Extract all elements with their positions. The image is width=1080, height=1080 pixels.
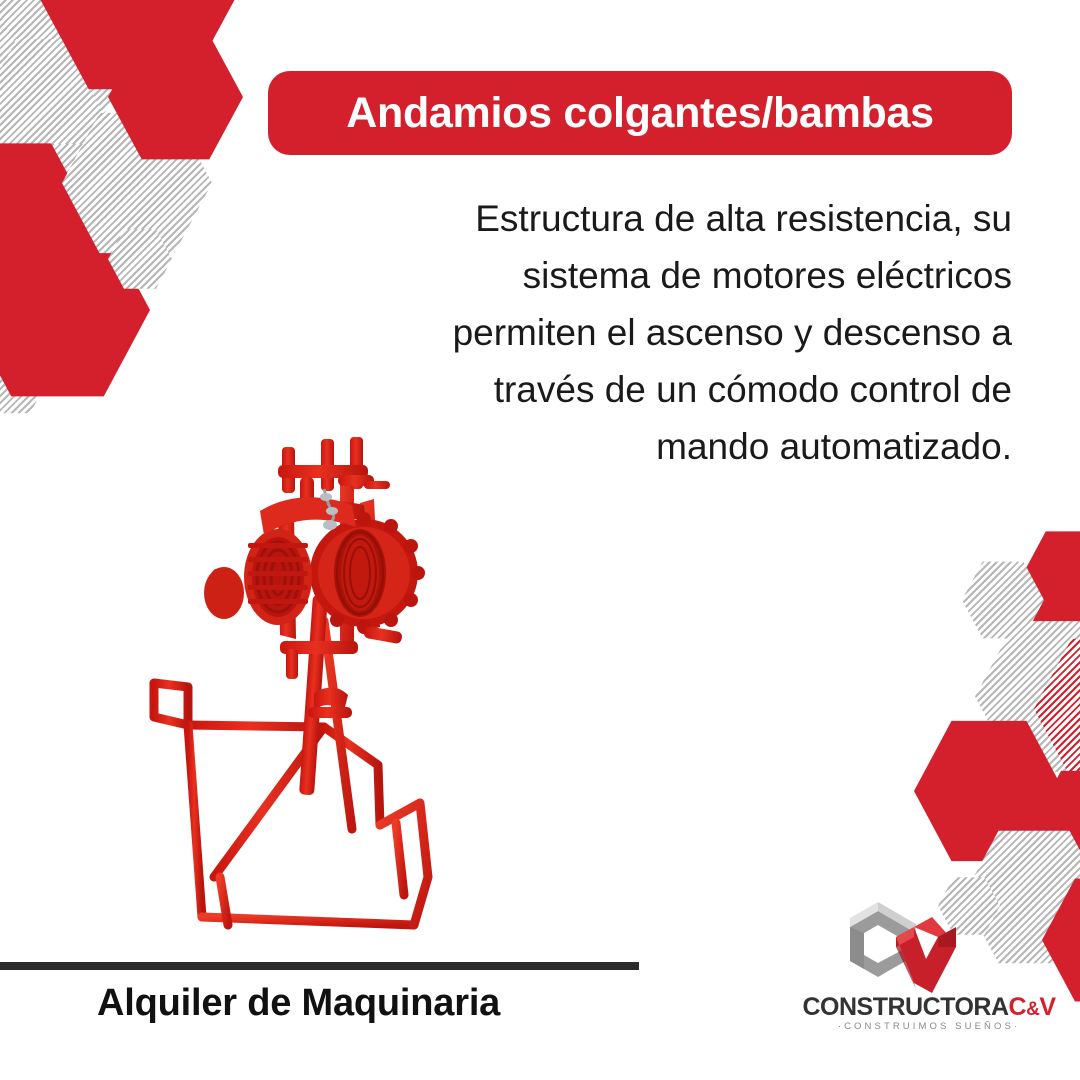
company-logo: CONSTRUCTORAC&V ·CONSTRUIMOS SUEÑOS·	[798, 893, 1060, 1033]
product-image	[128, 425, 468, 945]
logo-word-v: V	[1039, 993, 1055, 1021]
hexagon-striped	[0, 35, 115, 235]
description-line: través de un cómodo control de	[372, 361, 1012, 418]
hexagon-striped	[0, 140, 155, 336]
hexagon-solid-red	[0, 140, 95, 310]
logo-wordmark: CONSTRUCTORAC&V	[798, 993, 1060, 1022]
hexagon-solid-red	[40, 0, 235, 93]
hexagon-solid-red	[108, 32, 243, 162]
social-card-canvas: Andamios colgantes/bambas Estructura de …	[0, 0, 1080, 1080]
hexagon-striped-red	[1034, 636, 1080, 782]
logo-word-ampersand: &	[1026, 999, 1039, 1020]
logo-word-constructora: CONSTRUCTORA	[802, 993, 1008, 1021]
hexagon-solid-red	[1024, 768, 1080, 912]
hexagon-solid-red	[914, 718, 1064, 864]
logo-mark-icon	[838, 893, 968, 1001]
hexagon-striped-small	[962, 560, 1044, 640]
description-line: Estructura de alta resistencia, su	[372, 190, 1012, 247]
hexagon-striped	[0, 225, 80, 417]
hexagon-solid-red	[0, 220, 150, 400]
hexagon-striped	[62, 110, 212, 256]
description-line: permiten el ascenso y descenso a	[372, 304, 1012, 361]
description-text: Estructura de alta resistencia, su siste…	[372, 190, 1012, 475]
footer-divider	[0, 962, 639, 970]
hexagon-striped-small	[108, 228, 172, 290]
logo-word-c: C	[1009, 993, 1027, 1021]
hexagon-striped	[975, 618, 1080, 775]
description-line: sistema de motores eléctricos	[372, 247, 1012, 304]
andamio-colgante-illustration	[128, 425, 468, 945]
logo-tagline: ·CONSTRUIMOS SUEÑOS·	[798, 1021, 1060, 1032]
hexagon-solid-red	[1002, 528, 1080, 698]
footer-title: Alquiler de Maquinaria	[97, 982, 500, 1025]
banner-title: Andamios colgantes/bambas	[346, 89, 934, 138]
description-line: mando automatizado.	[372, 418, 1012, 475]
cv-3d-blocks-icon	[838, 893, 968, 1001]
hexagon-striped	[0, 0, 150, 130]
title-banner: Andamios colgantes/bambas	[268, 71, 1012, 155]
hexagon-striped	[0, 0, 15, 115]
